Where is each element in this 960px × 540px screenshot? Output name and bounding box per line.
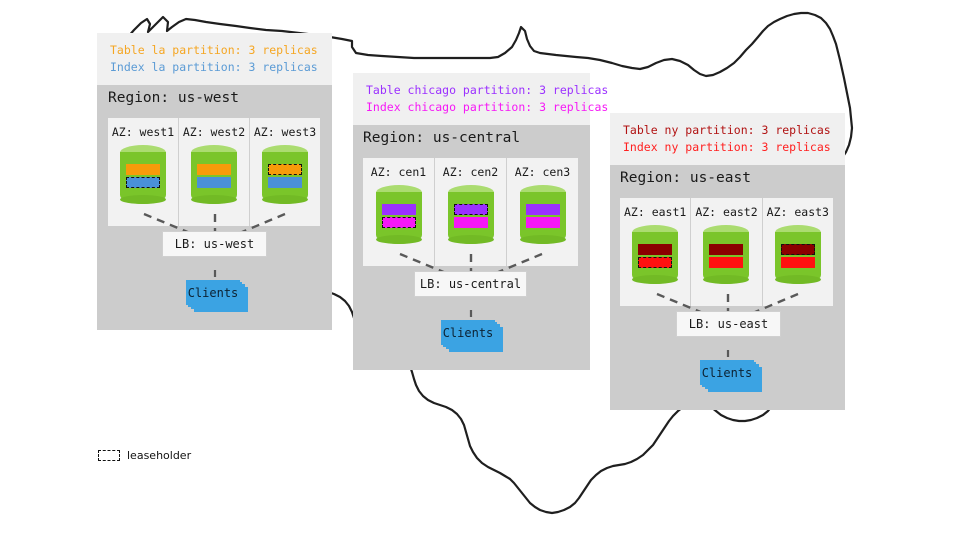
index-partition-label-us-west: Index la partition: 3 replicas bbox=[110, 59, 319, 76]
load-balancer-us-central[interactable]: LB: us-central bbox=[414, 271, 527, 297]
clients-label-us-west: Clients bbox=[186, 280, 240, 305]
legend: leaseholder bbox=[98, 449, 191, 462]
region-title-us-central: Region: us-central bbox=[363, 130, 520, 146]
partition-header-us-central: Table chicago partition: 3 replicas Inde… bbox=[353, 73, 590, 125]
table-partition-label-us-east: Table ny partition: 3 replicas bbox=[623, 122, 832, 139]
legend-label: leaseholder bbox=[127, 449, 191, 462]
region-title-us-east: Region: us-east bbox=[620, 170, 751, 186]
index-partition-label-us-east: Index ny partition: 3 replicas bbox=[623, 139, 832, 156]
load-balancer-us-east[interactable]: LB: us-east bbox=[676, 311, 781, 337]
table-partition-label-us-west: Table la partition: 3 replicas bbox=[110, 42, 319, 59]
clients-us-west[interactable]: Clients bbox=[186, 280, 248, 312]
partition-header-us-west: Table la partition: 3 replicas Index la … bbox=[97, 33, 332, 85]
clients-label-us-central: Clients bbox=[441, 320, 495, 345]
table-partition-label-us-central: Table chicago partition: 3 replicas bbox=[366, 82, 577, 99]
clients-label-us-east: Clients bbox=[700, 360, 754, 385]
leaseholder-swatch-icon bbox=[98, 450, 120, 461]
index-partition-label-us-central: Index chicago partition: 3 replicas bbox=[366, 99, 577, 116]
partition-header-us-east: Table ny partition: 3 replicas Index ny … bbox=[610, 113, 845, 165]
load-balancer-us-west[interactable]: LB: us-west bbox=[162, 231, 267, 257]
clients-us-east[interactable]: Clients bbox=[700, 360, 762, 392]
region-title-us-west: Region: us-west bbox=[108, 90, 239, 106]
clients-us-central[interactable]: Clients bbox=[441, 320, 503, 352]
